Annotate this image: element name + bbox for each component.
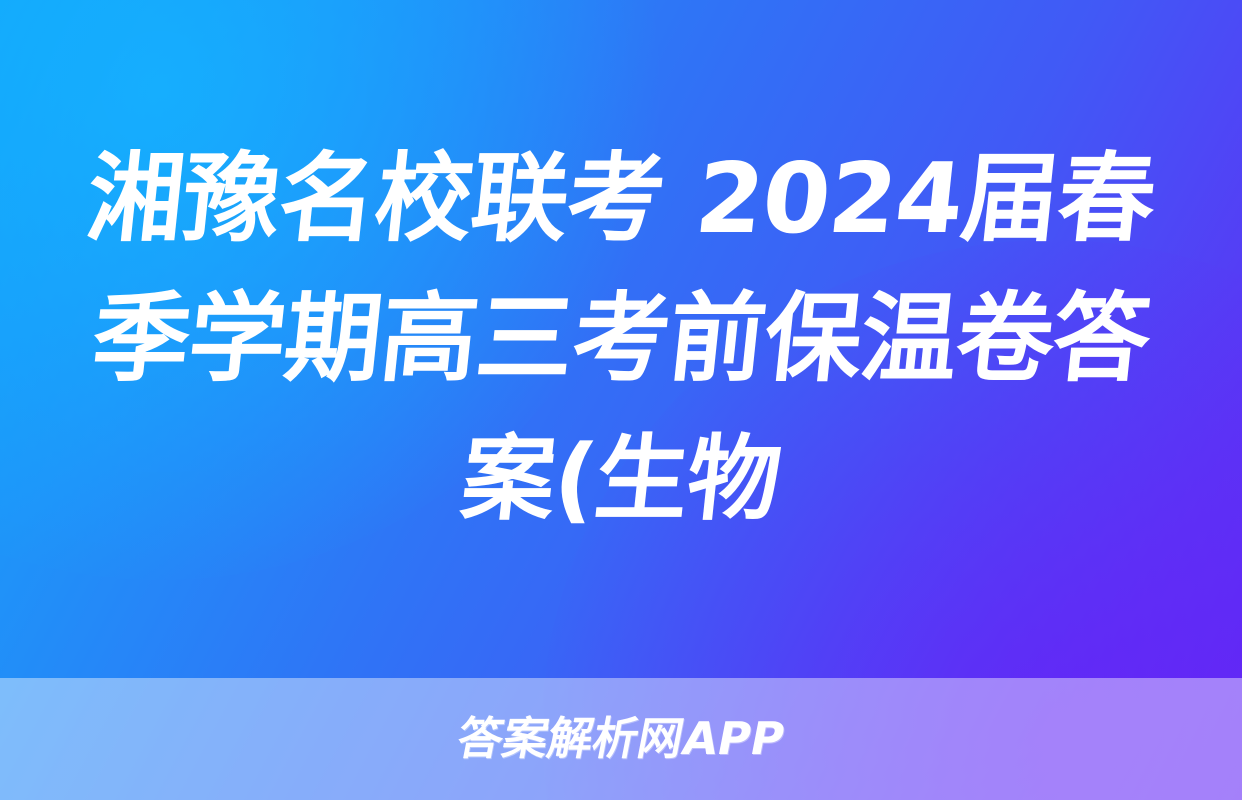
title-block: 湘豫名校联考 2024届春 季学期高三考前保温卷答 案(生物 (0, 0, 1242, 678)
promo-card: 湘豫名校联考 2024届春 季学期高三考前保温卷答 案(生物 答案解析网APP (0, 0, 1242, 800)
title-line-2: 季学期高三考前保温卷答 (71, 269, 1172, 409)
footer-watermark-band: 答案解析网APP (0, 678, 1242, 800)
title-line-3: 案(生物 (71, 409, 1172, 549)
page-title: 湘豫名校联考 2024届春 季学期高三考前保温卷答 案(生物 (78, 129, 1164, 549)
app-watermark-label: 答案解析网APP (453, 714, 789, 764)
title-line-1: 湘豫名校联考 2024届春 (71, 129, 1172, 269)
